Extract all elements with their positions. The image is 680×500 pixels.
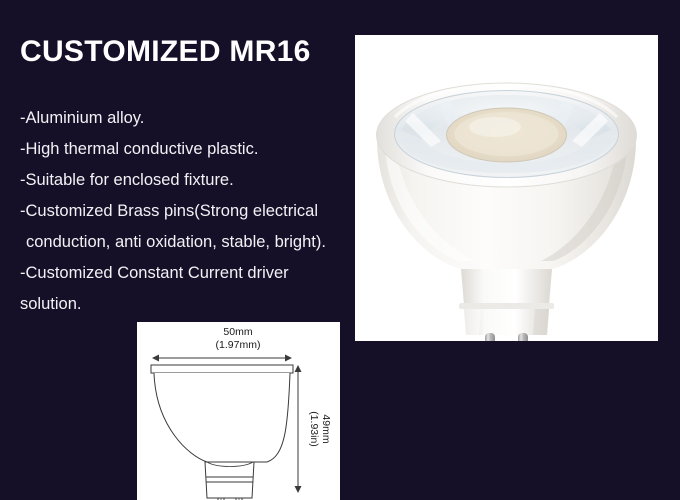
base-pin-right <box>518 333 528 341</box>
feature-item: solution. <box>20 289 360 320</box>
width-label-mm: 50mm <box>223 326 252 338</box>
base-band <box>459 303 554 309</box>
feature-item: -Aluminium alloy. <box>20 103 360 134</box>
dimension-diagram-panel: 50mm (1.97mm) 49mm (1.93in) <box>137 322 340 500</box>
product-slide: CUSTOMIZED MR16 -Aluminium alloy. -High … <box>0 0 680 500</box>
base-pin-left <box>485 333 495 341</box>
diagram-rim <box>151 365 293 373</box>
mr16-dimension-drawing: 50mm (1.97mm) 49mm (1.93in) <box>137 322 340 500</box>
page-title: CUSTOMIZED MR16 <box>20 35 311 69</box>
feature-item: -High thermal conductive plastic. <box>20 134 360 165</box>
height-label-in: (1.93in) <box>308 411 320 447</box>
diagram-base <box>205 462 254 498</box>
feature-item: -Customized Constant Current driver <box>20 258 360 289</box>
feature-item: conduction, anti oxidation, stable, brig… <box>20 227 360 258</box>
bulb-base-upper <box>461 269 552 305</box>
width-label-in: (1.97mm) <box>216 339 261 351</box>
mr16-led-bulb-photo <box>355 35 658 341</box>
feature-list: -Aluminium alloy. -High thermal conducti… <box>20 103 360 320</box>
feature-item: -Customized Brass pins(Strong electrical <box>20 196 360 227</box>
height-label-mm: 49mm <box>320 414 332 443</box>
product-photo-panel <box>355 35 658 341</box>
feature-item: -Suitable for enclosed fixture. <box>20 165 360 196</box>
